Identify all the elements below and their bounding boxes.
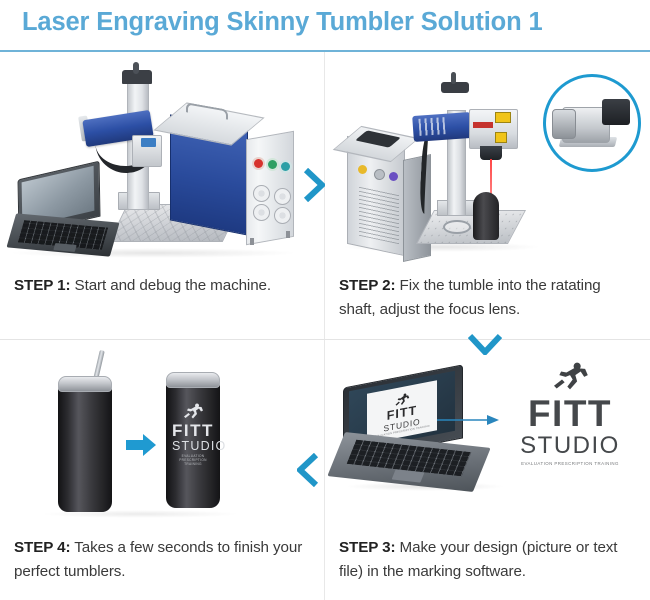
- adjust-knob-icon: [133, 62, 139, 74]
- page-title: Laser Engraving Skinny Tumbler Solution …: [22, 8, 542, 37]
- step-4-caption: STEP 4: Takes a few seconds to finish yo…: [14, 536, 311, 583]
- steps-grid: STEP 1: Start and debug the machine.: [0, 52, 650, 600]
- alignment-ring: [443, 220, 471, 234]
- emergency-stop-button: [254, 159, 263, 168]
- rotary-motor: [602, 99, 630, 125]
- step-1-caption: STEP 1: Start and debug the machine.: [14, 274, 311, 298]
- laser-machine-illustration: [0, 52, 325, 270]
- rotary-setup-illustration: [325, 52, 650, 270]
- step-3-caption: STEP 3: Make your design (picture or tex…: [339, 536, 636, 583]
- fan-vent-icon: [274, 188, 291, 205]
- tumbler-result-illustration: FITT STUDIO EVALUATION PRESCRIPTION TRAI…: [0, 340, 325, 532]
- laser-warning-label-icon: [495, 112, 511, 123]
- rotary-axis-inset: [543, 74, 641, 172]
- step-2-label: STEP 2:: [339, 277, 395, 294]
- step-2-cell: STEP 2: Fix the tumble into the ratating…: [325, 52, 650, 340]
- engraved-logo: FITT STUDIO EVALUATION PRESCRIPTION TRAI…: [172, 402, 214, 468]
- step-3-cell: FITT STUDIO EVALUATION PRESCRIPTION TRAI…: [325, 340, 650, 600]
- header: Laser Engraving Skinny Tumbler Solution …: [0, 0, 650, 52]
- logo-word-bottom: STUDIO: [172, 439, 214, 453]
- fan-vent-icon: [253, 185, 270, 202]
- laser-enable-button: [281, 162, 290, 171]
- chiller-vent-grille: [359, 186, 399, 245]
- step-4-label: STEP 4:: [14, 539, 70, 556]
- chevron-right-icon: [303, 168, 325, 202]
- step-4-image: FITT STUDIO EVALUATION PRESCRIPTION TRAI…: [0, 340, 325, 532]
- controller-cabinet-front: [246, 131, 294, 245]
- laser-warning-label-icon: [495, 132, 507, 143]
- step-1-image: [0, 52, 325, 270]
- infographic-page: Laser Engraving Skinny Tumbler Solution …: [0, 0, 650, 600]
- step-3-image: FITT STUDIO EVALUATION PRESCRIPTION TRAI…: [325, 340, 650, 532]
- tumbler-on-fixture: [473, 192, 499, 240]
- adjust-knob-icon: [451, 72, 456, 84]
- screen-to-logo-arrow-icon: [437, 412, 499, 422]
- chiller-knob: [374, 169, 385, 180]
- power-on-button: [268, 160, 277, 169]
- fitt-studio-logo: FITT STUDIO EVALUATION PRESCRIPTION TRAI…: [501, 360, 639, 466]
- tube-heat-fins: [418, 117, 445, 136]
- tumbler-lid: [58, 376, 112, 392]
- cabinet-foot: [250, 238, 254, 245]
- running-figure-icon: [550, 360, 590, 392]
- step-3-label: STEP 3:: [339, 539, 395, 556]
- cabinet-foot: [286, 231, 290, 238]
- block-arrow-right-icon: [126, 434, 156, 456]
- fiber-cable: [419, 132, 437, 215]
- tumbler-lid: [166, 372, 220, 388]
- step-1-label: STEP 1:: [14, 277, 70, 294]
- chiller-button-yellow: [358, 165, 367, 174]
- running-figure-icon: [182, 402, 204, 420]
- fan-vent-icon: [274, 207, 291, 224]
- step-4-cell: FITT STUDIO EVALUATION PRESCRIPTION TRAI…: [0, 340, 325, 600]
- logo-word-top: FITT: [501, 395, 639, 432]
- chevron-left-icon: [297, 453, 319, 487]
- brand-label: [473, 122, 493, 128]
- step-2-caption: STEP 2: Fix the tumble into the ratating…: [339, 274, 636, 321]
- logo-tagline: EVALUATION PRESCRIPTION TRAINING: [501, 461, 639, 466]
- design-software-illustration: FITT STUDIO EVALUATION PRESCRIPTION TRAI…: [325, 340, 650, 532]
- step-1-cell: STEP 1: Start and debug the machine.: [0, 52, 325, 340]
- logo-tagline: EVALUATION PRESCRIPTION TRAINING: [172, 454, 214, 466]
- column-top-cap: [441, 82, 469, 93]
- software-canvas: FITT STUDIO EVALUATION PRESCRIPTION TRAI…: [367, 386, 437, 440]
- step-1-text: Start and debug the machine.: [70, 277, 271, 294]
- logo-word-bottom: STUDIO: [501, 432, 639, 459]
- focus-lens: [480, 146, 502, 160]
- rotary-chuck: [552, 109, 576, 139]
- fan-vent-icon: [253, 204, 270, 221]
- chevron-down-icon: [468, 333, 502, 355]
- chiller-button-purple: [389, 172, 398, 181]
- focus-lens: [141, 138, 156, 147]
- blank-tumbler: [58, 384, 112, 512]
- logo-word-top: FITT: [172, 422, 214, 439]
- step-2-image: [325, 52, 650, 270]
